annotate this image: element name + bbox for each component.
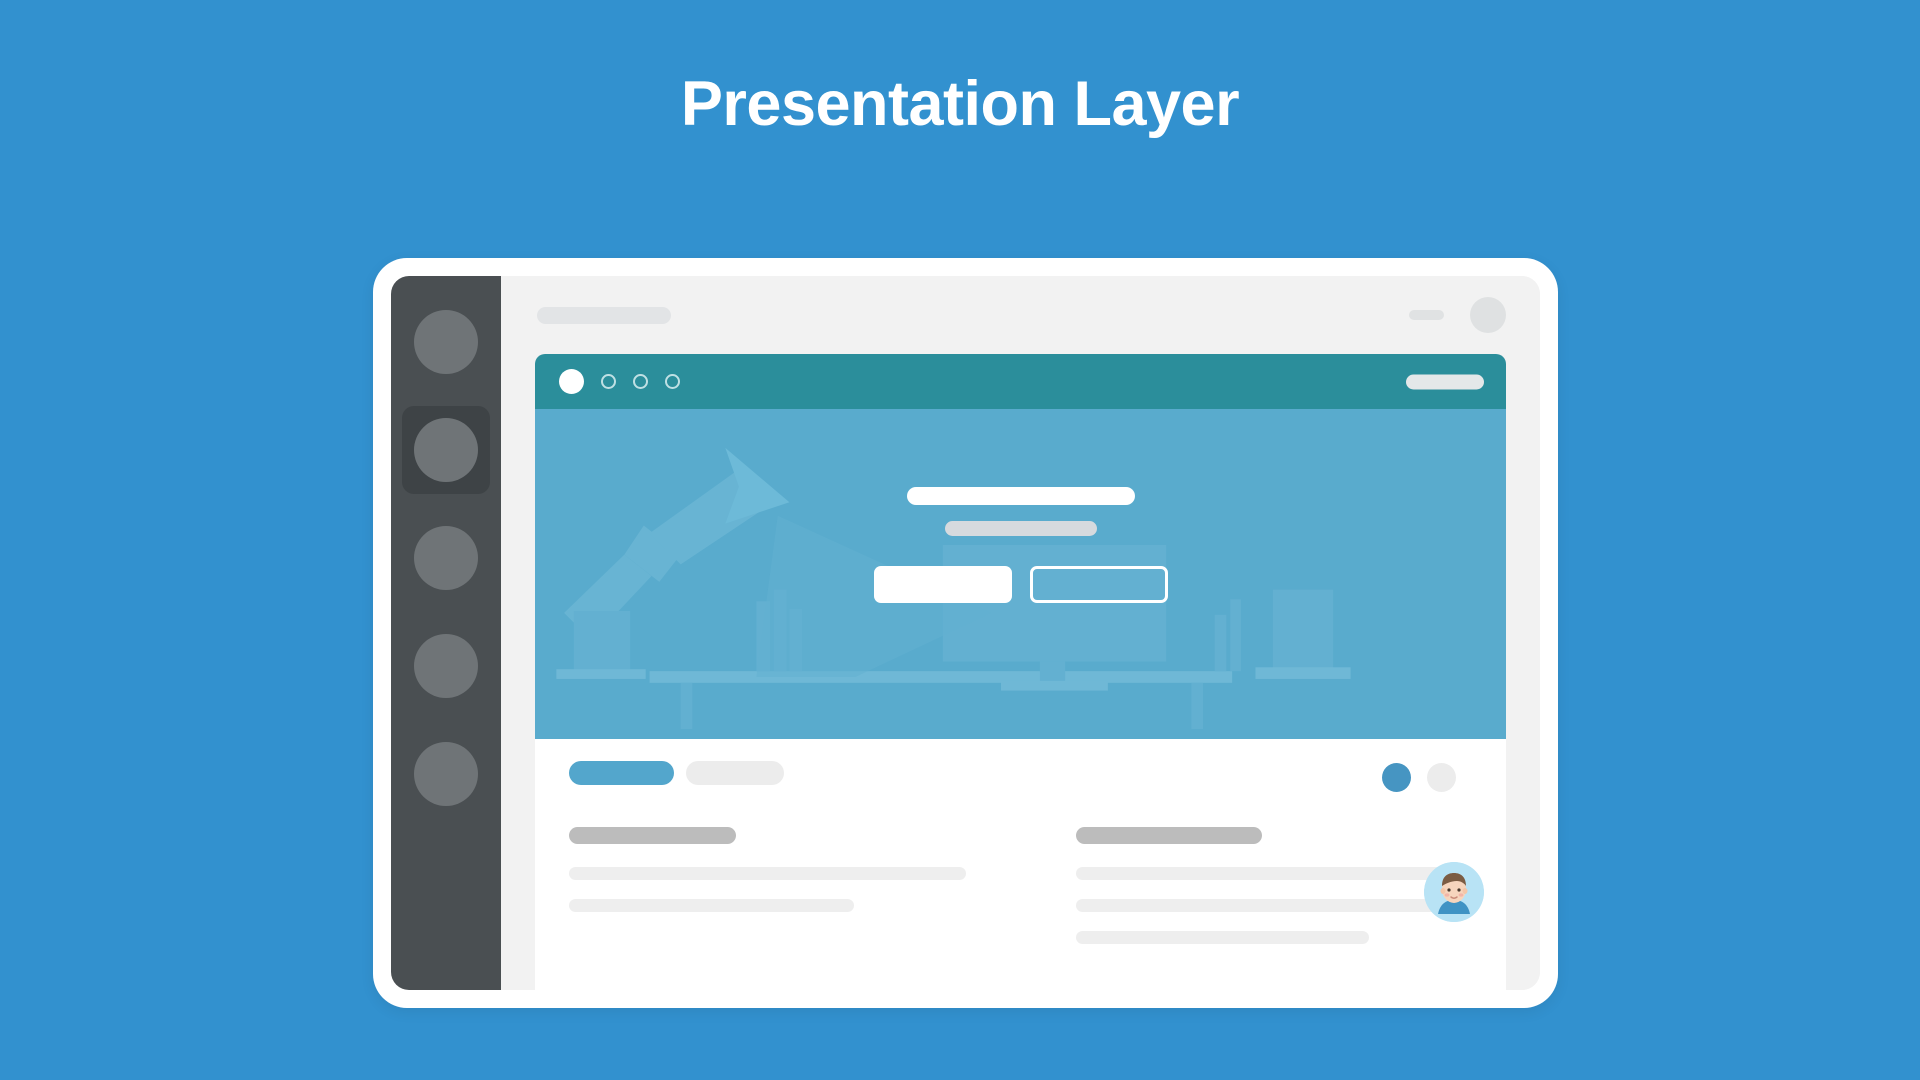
sidebar-item-3[interactable] <box>402 514 490 602</box>
hero-secondary-button[interactable] <box>1030 566 1168 603</box>
app-logo-placeholder <box>537 307 671 324</box>
app-header-controls <box>1409 297 1506 333</box>
content-columns <box>569 827 1472 963</box>
sidebar-item-2[interactable] <box>402 406 490 494</box>
sidebar-item-4-icon <box>414 634 478 698</box>
column-heading <box>1076 827 1262 844</box>
app-header <box>501 276 1540 354</box>
sidebar-item-5-icon <box>414 742 478 806</box>
user-avatar[interactable] <box>1424 862 1484 922</box>
tab-inactive[interactable] <box>686 761 784 785</box>
tab-bar <box>569 761 1472 785</box>
hero-button-group <box>874 566 1168 603</box>
browser-window <box>535 354 1506 990</box>
minimize-icon[interactable] <box>1409 310 1444 320</box>
browser-dot-outline-2-icon[interactable] <box>633 374 648 389</box>
sidebar-item-4[interactable] <box>402 622 490 710</box>
device-screen <box>391 276 1540 990</box>
content-column-right <box>1076 827 1473 963</box>
column-text-line <box>569 899 854 912</box>
content-column-left <box>569 827 966 963</box>
sidebar-item-1[interactable] <box>402 298 490 386</box>
app-body <box>501 276 1540 990</box>
column-text-line <box>1076 867 1473 880</box>
sidebar-item-3-icon <box>414 526 478 590</box>
hero-content <box>535 487 1506 603</box>
address-bar[interactable] <box>1406 374 1484 389</box>
hero-headline <box>907 487 1135 505</box>
hero-banner <box>535 409 1506 739</box>
column-text-line <box>1076 899 1473 912</box>
browser-dot-outline-1-icon[interactable] <box>601 374 616 389</box>
carousel-dot-inactive[interactable] <box>1427 763 1456 792</box>
browser-chrome-dots <box>559 369 680 394</box>
browser-chrome <box>535 354 1506 409</box>
sidebar-item-5[interactable] <box>402 730 490 818</box>
column-text-line <box>1076 931 1369 944</box>
content-section <box>535 739 1506 990</box>
sidebar-rail <box>391 276 501 990</box>
hero-subheadline <box>945 521 1097 536</box>
sidebar-item-1-icon <box>414 310 478 374</box>
column-heading <box>569 827 736 844</box>
hero-primary-button[interactable] <box>874 566 1012 603</box>
carousel-dot-active[interactable] <box>1382 763 1411 792</box>
user-avatar-icon <box>1424 862 1484 922</box>
sidebar-item-2-icon <box>414 418 478 482</box>
column-text-line <box>569 867 966 880</box>
page-title: Presentation Layer <box>0 70 1920 139</box>
browser-dot-outline-3-icon[interactable] <box>665 374 680 389</box>
carousel-indicators <box>1382 763 1456 792</box>
avatar[interactable] <box>1470 297 1506 333</box>
tab-active[interactable] <box>569 761 674 785</box>
device-frame <box>373 258 1558 1008</box>
browser-dot-filled-icon[interactable] <box>559 369 584 394</box>
